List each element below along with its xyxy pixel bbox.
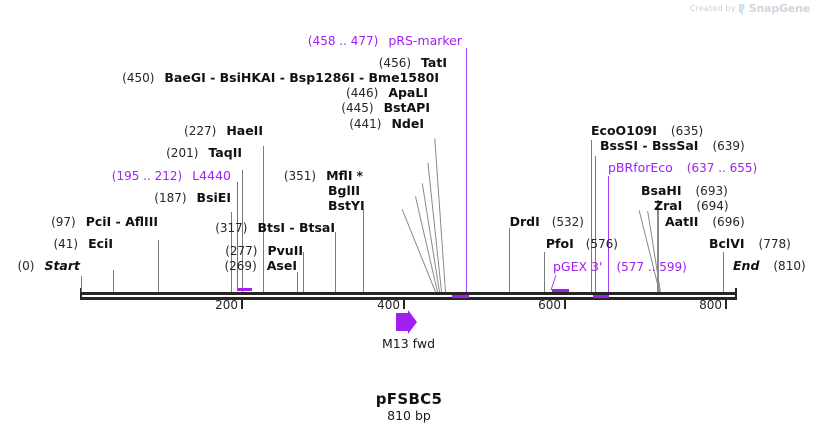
label-bstyi[interactable]: BstYI: [328, 199, 365, 213]
label-pgex3[interactable]: pGEX 3' (577 .. 599): [553, 260, 687, 274]
label-end[interactable]: End (810): [733, 259, 806, 273]
label-bsssi[interactable]: BssSI - BssSaI (639): [600, 139, 745, 153]
label-pvuii-text: PvuII: [261, 243, 303, 258]
label-bsiei-pos: (187): [154, 191, 186, 205]
ruler-tick-200: [241, 300, 243, 309]
label-prs-marker-pos: (458 .. 477): [308, 34, 378, 48]
label-apali-pos: (446): [346, 86, 378, 100]
label-mfli-text: MflI: [320, 168, 352, 183]
cut-tick-drdi: [509, 228, 510, 292]
label-bglii-text: BglII: [328, 183, 360, 198]
label-bglii[interactable]: BglII: [328, 184, 360, 198]
label-aatii[interactable]: AatII (696): [665, 215, 745, 229]
backbone-line-top: [80, 292, 737, 295]
ruler-label-200: 200: [215, 298, 240, 312]
label-tati-text: TatI: [415, 55, 447, 70]
label-zrai[interactable]: ZraI (694): [654, 199, 729, 213]
label-start-text: Start: [38, 258, 80, 273]
cut-tick-eci: [113, 270, 114, 292]
label-bsahi-text: BsaHI: [641, 183, 682, 198]
label-ecoo109i-pos: (635): [661, 124, 703, 138]
label-pci[interactable]: (97) PciI - AflIII: [51, 215, 158, 229]
label-baegi-text: BaeGI - BsiHKAI - Bsp1286I - Bme1580I: [158, 70, 439, 85]
snapgene-watermark: Created by SnapGene: [690, 2, 810, 15]
label-bsssi-text: BssSI - BssSaI: [600, 138, 698, 153]
label-bstapi-pos: (445): [341, 101, 373, 115]
label-btsi-pos: (317): [215, 221, 247, 235]
label-btsi[interactable]: (317) BtsI - BtsaI: [215, 221, 335, 235]
cut-tick-btsi: [335, 232, 336, 292]
feature-bar-l4440[interactable]: [237, 288, 252, 291]
label-pgex3-text: pGEX 3': [553, 259, 602, 274]
label-bsssi-pos: (639): [702, 139, 744, 153]
label-ndei-pos: (441): [349, 117, 381, 131]
label-bsahi-pos: (693): [686, 184, 728, 198]
label-zrai-pos: (694): [686, 199, 728, 213]
label-tati-pos: (456): [379, 56, 411, 70]
feature-bar-prs-marker[interactable]: [452, 295, 469, 298]
label-haeii-pos: (227): [184, 124, 216, 138]
label-bsiei[interactable]: (187) BsiEI: [154, 191, 231, 205]
label-mfli[interactable]: (351) MflI *: [284, 169, 363, 183]
snapgene-logo-icon: [739, 4, 746, 15]
cut-tick-pci: [158, 240, 159, 292]
label-l4440-pos: (195 .. 212): [112, 169, 182, 183]
label-pvuii[interactable]: (277) PvuII: [225, 244, 303, 258]
label-aatii-text: AatII: [665, 214, 698, 229]
label-aatii-pos: (696): [702, 215, 744, 229]
label-btsi-text: BtsI - BtsaI: [251, 220, 335, 235]
label-end-text: End: [733, 258, 759, 273]
leader-ndei: [402, 209, 436, 292]
label-asei-text: AseI: [261, 258, 297, 273]
label-pbrforeco-text: pBRforEco: [608, 160, 673, 175]
ruler-tick-800: [725, 300, 727, 309]
label-l4440[interactable]: (195 .. 212) L4440: [112, 169, 231, 183]
label-pfoi[interactable]: PfoI (576): [546, 237, 618, 251]
ruler-tick-400: [403, 300, 405, 309]
label-start-pos: (0): [17, 259, 34, 273]
plasmid-length: 810 bp: [0, 408, 818, 423]
label-bclvi[interactable]: BclVI (778): [709, 237, 791, 251]
label-bstapi-text: BstAPI: [378, 100, 430, 115]
label-bstyi-text: BstYI: [328, 198, 365, 213]
label-prs-marker-text: pRS-marker: [382, 33, 462, 48]
label-baegi[interactable]: (450) BaeGI - BsiHKAI - Bsp1286I - Bme15…: [122, 71, 439, 85]
cut-tick-start: [81, 276, 82, 292]
cut-tick-mfli: [363, 209, 364, 292]
label-drdi[interactable]: DrdI (532): [510, 215, 584, 229]
label-pfoi-pos: (576): [578, 237, 618, 251]
label-bstapi[interactable]: (445) BstAPI: [341, 101, 430, 115]
feature-bar-pgex3[interactable]: [552, 289, 569, 292]
backbone-line-bottom: [80, 297, 737, 300]
label-pbrforeco-pos: (637 .. 655): [677, 161, 757, 175]
label-eci-pos: (41): [53, 237, 78, 251]
ruler-tick-600: [564, 300, 566, 309]
label-bclvi-pos: (778): [749, 237, 791, 251]
watermark-created-by: Created by: [690, 4, 736, 13]
cut-tick-pfoi: [544, 252, 545, 292]
feature-bar-pbrforeco[interactable]: [593, 295, 609, 298]
label-zrai-text: ZraI: [654, 198, 682, 213]
label-haeii-text: HaeII: [220, 123, 263, 138]
label-pbrforeco[interactable]: pBRforEco (637 .. 655): [608, 161, 757, 175]
primer-label-m13-fwd: M13 fwd: [382, 336, 435, 351]
page-title: pFSBC5: [0, 390, 818, 408]
ruler-label-600: 600: [538, 298, 563, 312]
label-taqii-text: TaqII: [202, 145, 242, 160]
label-bclvi-text: BclVI: [709, 236, 745, 251]
label-l4440-text: L4440: [186, 168, 231, 183]
ruler-label-800: 800: [699, 298, 724, 312]
cut-tick-bclvi: [723, 252, 724, 292]
label-pfoi-text: PfoI: [546, 236, 574, 251]
label-eci-text: EciI: [82, 236, 113, 251]
label-eci[interactable]: (41) EciI: [53, 237, 113, 251]
label-bsahi[interactable]: BsaHI (693): [641, 184, 728, 198]
label-apali-text: ApaLI: [382, 85, 428, 100]
label-pci-text: PciI - AflIII: [80, 214, 158, 229]
label-bsiei-text: BsiEI: [191, 190, 231, 205]
backbone-end-cap: [735, 288, 737, 300]
label-prs-marker[interactable]: (458 .. 477) pRS-marker: [308, 34, 462, 48]
label-ecoo109i-text: EcoO109I: [591, 123, 657, 138]
label-pvuii-pos: (277): [225, 244, 257, 258]
feature-leader-pgex3: [551, 275, 565, 290]
label-ecoo109i[interactable]: EcoO109I (635): [591, 124, 703, 138]
watermark-product-name: SnapGene: [749, 2, 810, 15]
label-asei-pos: (269): [224, 259, 256, 273]
primer-arrow-m13-fwd[interactable]: [396, 310, 418, 338]
feature-leader-pbrforeco: [608, 176, 609, 292]
feature-leader-prs-marker: [466, 48, 467, 292]
label-haeii[interactable]: (227) HaeII: [184, 124, 263, 138]
label-start[interactable]: (0) Start: [17, 259, 80, 273]
label-drdi-text: DrdI: [510, 214, 540, 229]
label-ndei-text: NdeI: [385, 116, 424, 131]
label-end-pos: (810): [763, 259, 805, 273]
label-taqii[interactable]: (201) TaqII: [166, 146, 242, 160]
label-baegi-pos: (450): [122, 71, 154, 85]
label-mfli-pos: (351): [284, 169, 316, 183]
label-taqii-pos: (201): [166, 146, 198, 160]
cut-tick-asei: [297, 272, 298, 292]
label-drdi-pos: (532): [544, 215, 584, 229]
label-pci-pos: (97): [51, 215, 76, 229]
label-asei[interactable]: (269) AseI: [224, 259, 297, 273]
cut-tick-pvuii: [303, 252, 304, 292]
label-apali[interactable]: (446) ApaLI: [346, 86, 428, 100]
label-ndei[interactable]: (441) NdeI: [349, 117, 424, 131]
label-tati[interactable]: (456) TatI: [379, 56, 447, 70]
label-mfli-star-icon: *: [356, 168, 363, 183]
label-pgex3-pos: (577 .. 599): [606, 260, 686, 274]
feature-leader-l4440: [237, 182, 238, 290]
plasmid-linear-map: Created by SnapGene 200 400 600 800: [0, 0, 818, 430]
